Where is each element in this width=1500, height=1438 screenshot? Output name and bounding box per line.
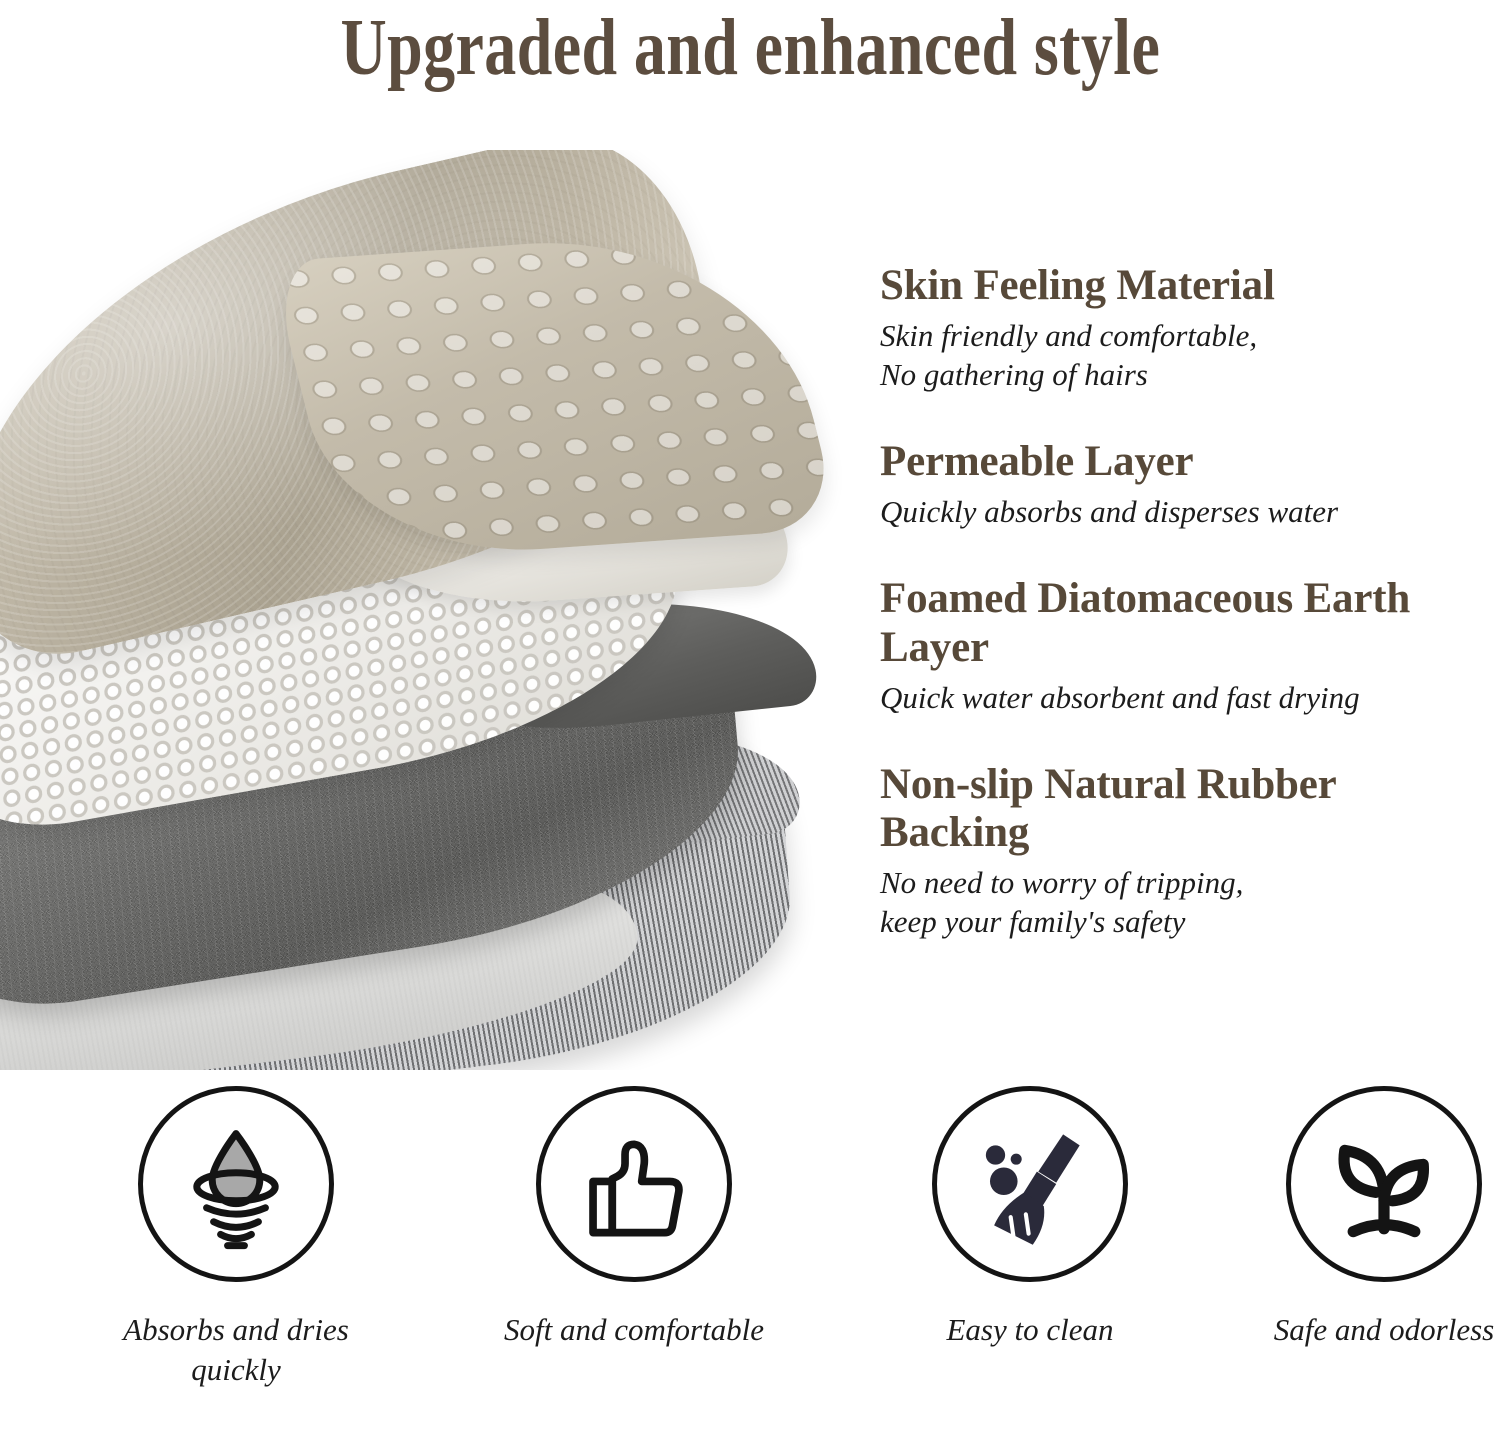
flap-oval-emboss-texture bbox=[269, 227, 840, 562]
page-title: Upgraded and enhanced style bbox=[340, 8, 1160, 88]
benefit-caption: Safe and odorless bbox=[1234, 1310, 1500, 1350]
water-drop-ripple-icon bbox=[166, 1114, 306, 1254]
benefit-icon-row: Absorbs and dries quickly Soft and comfo… bbox=[0, 1086, 1500, 1438]
page-header: Upgraded and enhanced style bbox=[0, 0, 1500, 96]
feature-title: Non-slip Natural Rubber Backing bbox=[880, 761, 1480, 857]
feature-description: Quick water absorbent and fast drying bbox=[880, 678, 1480, 717]
benefit-caption: Absorbs and dries quickly bbox=[86, 1310, 386, 1391]
feature-description: Skin friendly and comfortable, No gather… bbox=[880, 316, 1480, 394]
benefit-icon-circle bbox=[536, 1086, 732, 1282]
benefit-icon-circle bbox=[138, 1086, 334, 1282]
benefit-icon-circle bbox=[932, 1086, 1128, 1282]
benefit-caption: Easy to clean bbox=[880, 1310, 1180, 1350]
broom-sweep-icon bbox=[961, 1115, 1099, 1253]
benefit-item-soft-and-comfortable: Soft and comfortable bbox=[484, 1086, 784, 1350]
thumbs-up-icon bbox=[570, 1120, 698, 1248]
feature-list: Skin Feeling Material Skin friendly and … bbox=[880, 262, 1480, 941]
feature-description: No need to worry of tripping, keep your … bbox=[880, 863, 1480, 941]
feature-description: Quickly absorbs and disperses water bbox=[880, 492, 1480, 531]
feature-title: Permeable Layer bbox=[880, 438, 1480, 486]
benefit-item-safe-and-odorless: Safe and odorless bbox=[1234, 1086, 1500, 1350]
feature-item-foamed-diatomaceous-earth-layer: Foamed Diatomaceous Earth Layer Quick wa… bbox=[880, 575, 1480, 716]
layer-skin-feeling-flap bbox=[269, 227, 840, 562]
benefit-icon-circle bbox=[1286, 1086, 1482, 1282]
benefit-caption: Soft and comfortable bbox=[484, 1310, 784, 1350]
feature-item-skin-feeling-material: Skin Feeling Material Skin friendly and … bbox=[880, 262, 1480, 394]
feature-item-permeable-layer: Permeable Layer Quickly absorbs and disp… bbox=[880, 438, 1480, 531]
benefit-item-absorbs-and-dries-quickly: Absorbs and dries quickly bbox=[86, 1086, 386, 1391]
feature-title: Skin Feeling Material bbox=[880, 262, 1480, 310]
feature-title: Foamed Diatomaceous Earth Layer bbox=[880, 575, 1480, 671]
sprout-plant-icon bbox=[1314, 1114, 1454, 1254]
product-layer-illustration bbox=[0, 150, 860, 1070]
feature-item-non-slip-natural-rubber-backing: Non-slip Natural Rubber Backing No need … bbox=[880, 761, 1480, 941]
benefit-item-easy-to-clean: Easy to clean bbox=[880, 1086, 1180, 1350]
